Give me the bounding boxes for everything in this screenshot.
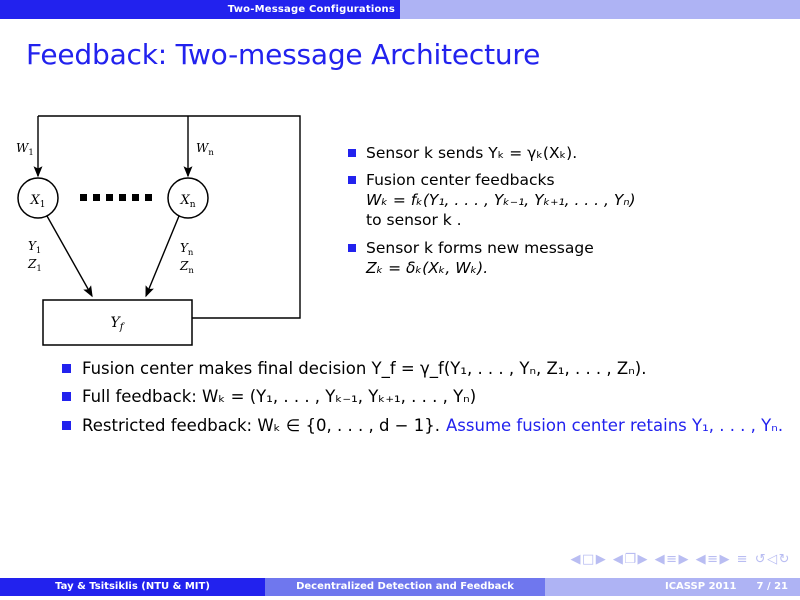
bullet-square-icon — [348, 149, 356, 157]
bullet-line: Fusion center feedbacks — [366, 170, 800, 190]
bullet-line: Full feedback: Wₖ = (Y₁, . . . , Yₖ₋₁, Y… — [82, 386, 800, 407]
bullet-square-icon — [62, 392, 71, 401]
bullet-line: Sensor k forms new message — [366, 238, 800, 258]
footer-conference: ICASSP 2011 — [665, 578, 736, 596]
footer-page-number: 7 / 21 — [757, 578, 789, 596]
bullet-text: Sensor k sends Yₖ = γₖ(Xₖ). — [366, 143, 800, 163]
bullet-line: Wₖ = fₖ(Y₁, . . . , Yₖ₋₁, Yₖ₊₁, . . . , … — [366, 190, 800, 210]
navigation-glyphs[interactable]: ◀□▶ ◀❐▶ ◀≡▶ ◀≡▶ ≡ ↺◁↻ — [569, 552, 792, 567]
footer-authors: Tay & Tsitsiklis (NTU & MIT) — [0, 578, 265, 596]
bullet-text: Restricted feedback: Wₖ ∈ {0, . . . , d … — [82, 415, 800, 436]
bullet-sensor-forms-new-message: Sensor k forms new message Zₖ = δₖ(Xₖ, W… — [348, 238, 800, 278]
bullet-line: Sensor k sends Yₖ = γₖ(Xₖ). — [366, 143, 800, 163]
label-z1: Z1 — [27, 257, 42, 274]
header-bar-light-segment — [400, 0, 800, 19]
label-zn: Zn — [179, 259, 194, 276]
bullet-line-wrap: Restricted feedback: Wₖ ∈ {0, . . . , d … — [82, 415, 800, 436]
label-wn: Wn — [196, 141, 214, 158]
bullet-sensor-sends: Sensor k sends Yₖ = γₖ(Xₖ). — [348, 143, 800, 163]
bullet-line: Zₖ = δₖ(Xₖ, Wₖ). — [366, 258, 800, 278]
edge-y1z1 — [47, 216, 92, 296]
bullet-text: Full feedback: Wₖ = (Y₁, . . . , Yₖ₋₁, Y… — [82, 386, 800, 407]
feedback-loop-wire — [38, 116, 300, 318]
bullet-line-part-blue: Assume fusion center retains Y₁, . . . ,… — [446, 416, 783, 435]
bullet-line: Fusion center makes final decision Y_f =… — [82, 358, 800, 379]
architecture-diagram: X1 Xn Yf W1 Wn Y1 Z1 Yn Zn — [0, 100, 330, 360]
bullet-square-icon — [62, 364, 71, 373]
footer-bar: Tay & Tsitsiklis (NTU & MIT) Decentraliz… — [0, 578, 800, 596]
bottom-bullet-list: Fusion center makes final decision Y_f =… — [62, 358, 800, 443]
bullet-fusion-center-feedbacks: Fusion center feedbacks Wₖ = fₖ(Y₁, . . … — [348, 170, 800, 230]
label-w1: W1 — [16, 141, 34, 158]
bullet-restricted-feedback: Restricted feedback: Wₖ ∈ {0, . . . , d … — [62, 415, 800, 436]
beamer-navigation-icons[interactable]: ◀□▶ ◀❐▶ ◀≡▶ ◀≡▶ ≡ ↺◁↻ — [569, 552, 792, 567]
bullet-line: to sensor k . — [366, 210, 800, 230]
bullet-fusion-final-decision: Fusion center makes final decision Y_f =… — [62, 358, 800, 379]
right-bullet-list: Sensor k sends Yₖ = γₖ(Xₖ). Fusion cente… — [348, 143, 800, 285]
bullet-square-icon — [62, 421, 71, 430]
bullet-full-feedback: Full feedback: Wₖ = (Y₁, . . . , Yₖ₋₁, Y… — [62, 386, 800, 407]
bullet-line-part-black: Restricted feedback: Wₖ ∈ {0, . . . , d … — [82, 416, 440, 435]
page-title: Feedback: Two-message Architecture — [26, 38, 540, 71]
footer-right-segment: ICASSP 2011 7 / 21 — [545, 578, 800, 596]
header-bar: Two-Message Configurations — [0, 0, 800, 19]
edge-ynzn — [146, 216, 179, 296]
section-title: Two-Message Configurations — [0, 0, 395, 19]
label-yn: Yn — [180, 241, 194, 258]
bullet-text: Sensor k forms new message Zₖ = δₖ(Xₖ, W… — [366, 238, 800, 278]
bullet-square-icon — [348, 244, 356, 252]
label-y1: Y1 — [28, 239, 41, 256]
footer-talk-title: Decentralized Detection and Feedback — [265, 578, 545, 596]
bullet-text: Fusion center makes final decision Y_f =… — [82, 358, 800, 379]
bullet-square-icon — [348, 176, 356, 184]
bullet-text: Fusion center feedbacks Wₖ = fₖ(Y₁, . . … — [366, 170, 800, 230]
ellipsis-dots — [80, 194, 152, 201]
